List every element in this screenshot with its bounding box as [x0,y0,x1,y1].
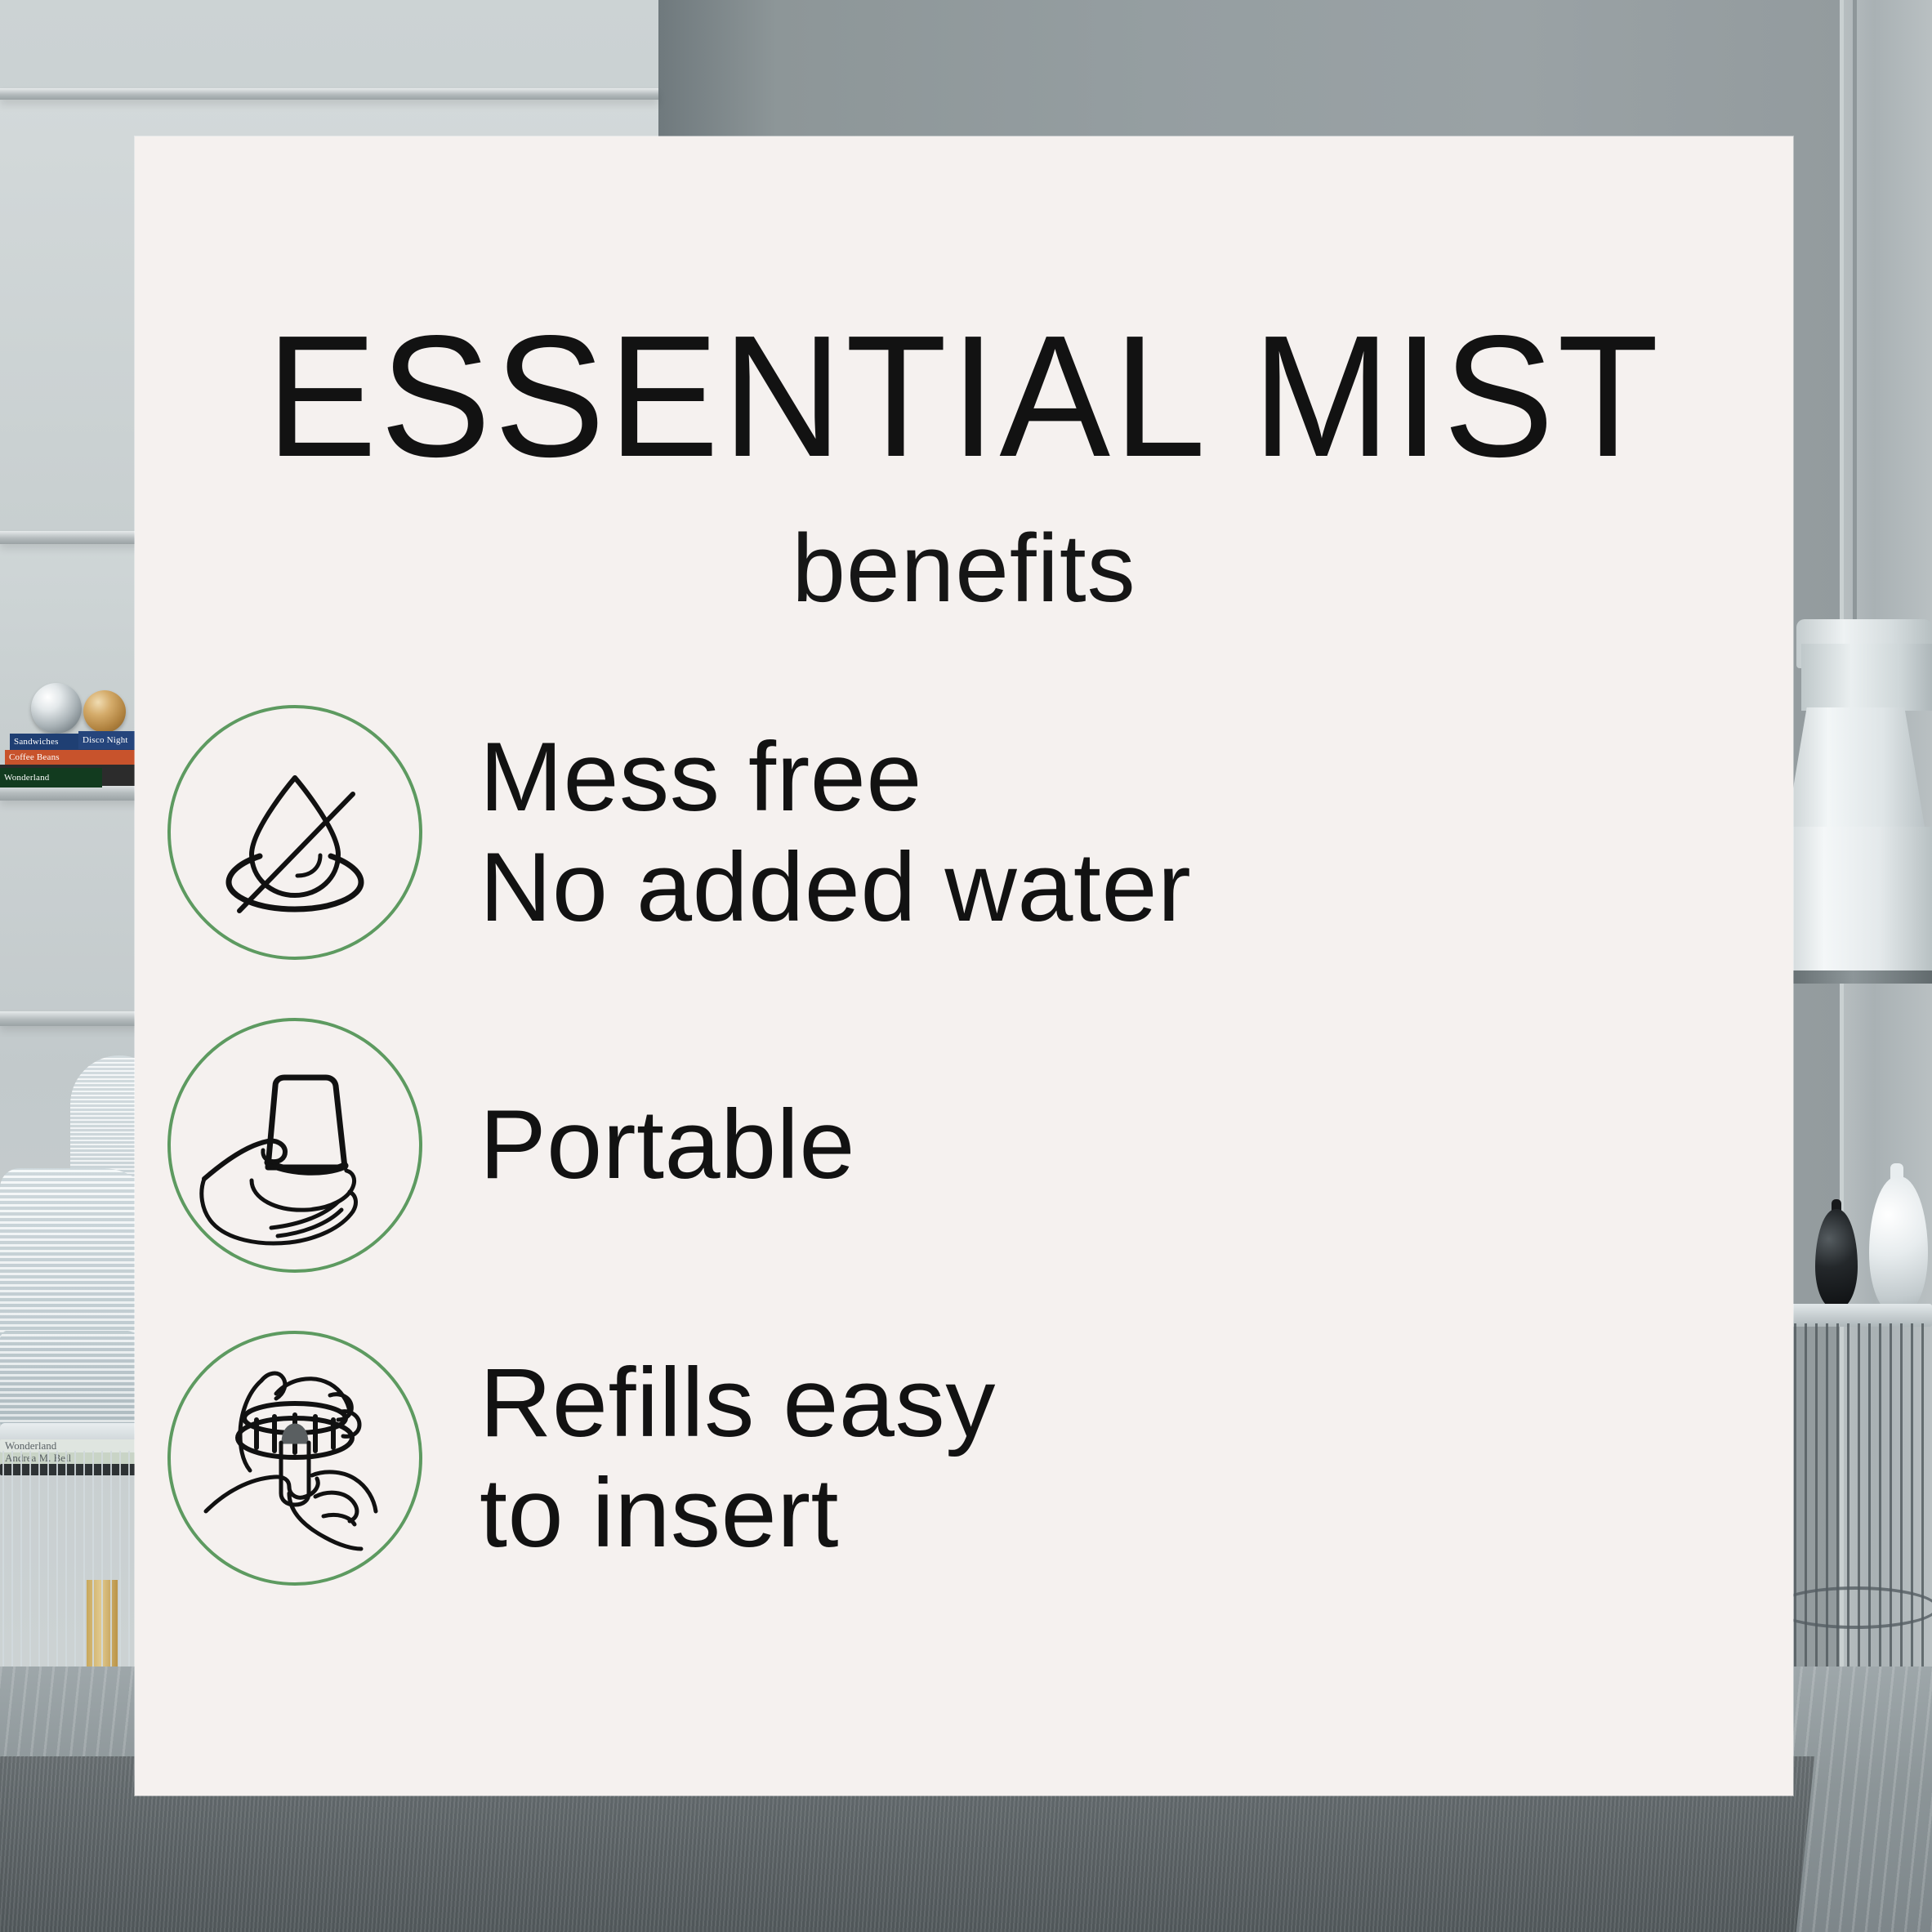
silver-sphere-decor [31,683,82,734]
page-title: ESSENTIAL MIST [168,310,1760,483]
benefit-label: Refills easy to insert [480,1348,996,1568]
armchair-seat [0,1330,154,1428]
hand-inserting-refill-icon [167,1331,422,1586]
right-side-table-ring [1773,1586,1932,1629]
no-water-drop-icon [167,705,422,960]
hand-holding-diffuser-icon [167,1018,422,1273]
pendant-lamp-cord [1853,0,1857,621]
white-vase [1869,1176,1928,1314]
gold-sphere-decor [83,690,126,733]
page-subtitle: benefits [135,520,1793,617]
benefit-item-refills: Refills easy to insert [135,1301,1793,1614]
shelf-ledge-1 [0,88,658,100]
infographic-canvas: SandwichesDisco NightCoffee BeansAndrea … [0,0,1932,1932]
shelf-book: Coffee Beans [5,750,152,765]
pendant-lamp-body [1778,827,1932,979]
benefit-label: Portable [480,1090,855,1199]
benefit-item-portable: Portable [135,988,1793,1301]
pendant-lamp-base [1774,970,1932,984]
pendant-lamp-neck [1801,644,1932,711]
shelf-book: Wonderland [0,768,102,788]
benefit-label: Mess free No added water [480,722,1191,942]
benefit-item-mess-free: Mess free No added water [135,676,1793,988]
benefits-card: ESSENTIAL MIST benefits [135,136,1793,1796]
benefits-list: Mess free No added water [135,676,1793,1614]
